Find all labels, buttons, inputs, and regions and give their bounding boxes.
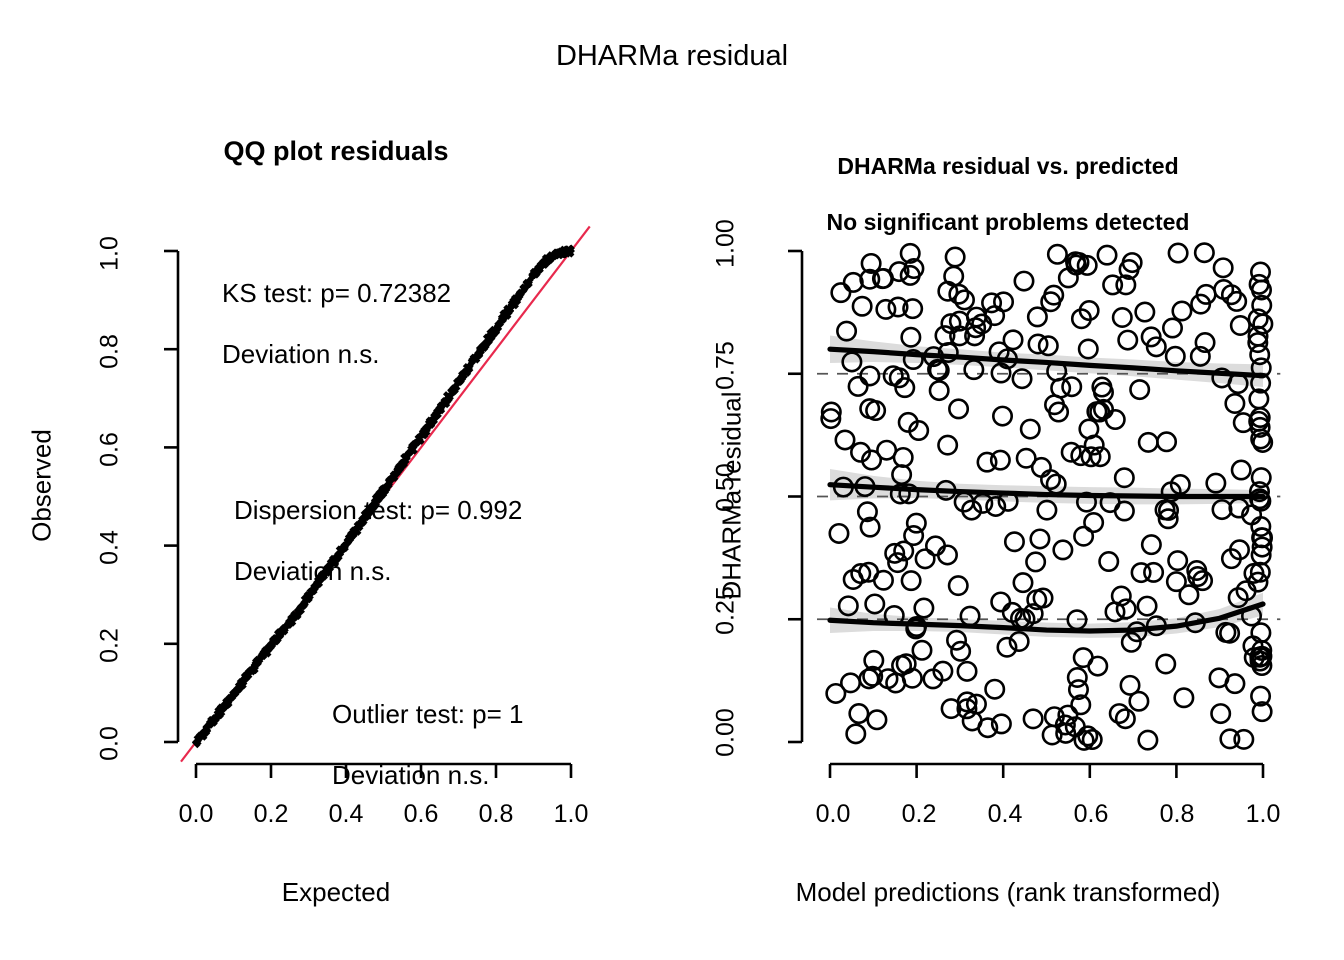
residual-point bbox=[1024, 710, 1042, 728]
qq-point bbox=[498, 320, 503, 325]
qq-point bbox=[435, 413, 440, 418]
qq-point bbox=[282, 626, 287, 631]
qq-point bbox=[543, 257, 548, 262]
qq-point bbox=[514, 299, 519, 304]
qq-point bbox=[500, 310, 505, 315]
qq-point bbox=[206, 721, 211, 726]
qq-point bbox=[249, 668, 254, 673]
qq-point bbox=[480, 346, 485, 351]
residual-point bbox=[1062, 443, 1080, 461]
qq-point bbox=[551, 254, 556, 259]
qq-point bbox=[242, 678, 247, 683]
residual-point bbox=[1252, 546, 1270, 564]
qq-point bbox=[438, 408, 443, 413]
qq-point bbox=[547, 254, 552, 259]
qq-point bbox=[254, 657, 259, 662]
qq-point bbox=[495, 322, 500, 327]
qq-point bbox=[422, 433, 427, 438]
qq-point bbox=[558, 253, 563, 258]
qq-point bbox=[476, 345, 481, 350]
qq-point bbox=[472, 357, 477, 362]
qq-point bbox=[518, 294, 523, 299]
qq-point bbox=[551, 252, 556, 257]
residual-point bbox=[841, 674, 859, 692]
qq-point bbox=[487, 340, 492, 345]
qq-point bbox=[200, 730, 205, 735]
dharma-diagnostic-figure: DHARMa residual QQ plot residuals Observ… bbox=[0, 0, 1344, 960]
qq-point bbox=[236, 681, 241, 686]
qq-point bbox=[507, 309, 512, 314]
residual-point bbox=[1252, 359, 1270, 377]
qq-point bbox=[486, 337, 491, 342]
qq-point bbox=[407, 449, 412, 454]
qq-point bbox=[517, 295, 522, 300]
qq-point bbox=[506, 314, 511, 319]
qq-point bbox=[569, 252, 574, 257]
qq-point bbox=[520, 284, 525, 289]
qq-point bbox=[537, 263, 542, 268]
qq-point bbox=[217, 704, 222, 709]
qq-point bbox=[531, 272, 536, 277]
qq-point bbox=[242, 681, 247, 686]
residual-point bbox=[1088, 402, 1106, 420]
qq-point bbox=[513, 304, 518, 309]
qq-point bbox=[455, 381, 460, 386]
qq-point bbox=[451, 386, 456, 391]
qq-point bbox=[551, 251, 556, 256]
residual-point bbox=[895, 542, 913, 560]
residual-confidence-band-q075 bbox=[830, 335, 1263, 387]
qq-point bbox=[411, 444, 416, 449]
residual-point bbox=[852, 564, 870, 582]
qq-point bbox=[273, 635, 278, 640]
qq-point bbox=[423, 425, 428, 430]
qq-point bbox=[539, 264, 544, 269]
residual-point bbox=[1250, 412, 1268, 430]
residual-point bbox=[924, 670, 942, 688]
residual-point bbox=[1252, 430, 1270, 448]
qq-point bbox=[495, 325, 500, 330]
ks-test-line2: Deviation n.s. bbox=[222, 339, 451, 370]
residual-point bbox=[1059, 706, 1077, 724]
qq-point bbox=[498, 320, 503, 325]
qq-point bbox=[262, 654, 267, 659]
qq-point bbox=[261, 654, 266, 659]
qq-point bbox=[467, 365, 472, 370]
qq-point bbox=[565, 251, 570, 256]
qq-point bbox=[454, 379, 459, 384]
qq-point bbox=[418, 437, 423, 442]
qq-point bbox=[538, 264, 543, 269]
qq-point bbox=[542, 261, 547, 266]
residual-point bbox=[978, 453, 996, 471]
qq-point bbox=[562, 253, 567, 258]
qq-point bbox=[258, 653, 263, 658]
residual-point bbox=[1014, 573, 1032, 591]
qq-point bbox=[221, 707, 226, 712]
qq-point bbox=[568, 249, 573, 254]
residual-point bbox=[1253, 538, 1271, 556]
qq-point bbox=[210, 718, 215, 723]
residual-point bbox=[1139, 731, 1157, 749]
qq-point bbox=[250, 668, 255, 673]
qq-point bbox=[230, 694, 235, 699]
qq-point bbox=[488, 338, 493, 343]
residual-y-tick-2: 0.50 bbox=[712, 450, 741, 526]
qq-point bbox=[253, 662, 258, 667]
qq-point bbox=[244, 676, 249, 681]
qq-point bbox=[462, 375, 467, 380]
residual-point bbox=[1189, 567, 1207, 585]
qq-point bbox=[415, 441, 420, 446]
qq-point bbox=[201, 734, 206, 739]
qq-point bbox=[252, 660, 257, 665]
qq-point bbox=[216, 707, 221, 712]
residual-point bbox=[1253, 529, 1271, 547]
qq-point bbox=[246, 671, 251, 676]
qq-point bbox=[224, 699, 229, 704]
residual-point bbox=[1214, 280, 1232, 298]
residual-point bbox=[1244, 637, 1262, 655]
qq-point bbox=[214, 710, 219, 715]
residual-point bbox=[963, 712, 981, 730]
qq-point bbox=[503, 310, 508, 315]
residual-point bbox=[830, 524, 848, 542]
qq-point bbox=[426, 417, 431, 422]
qq-point bbox=[402, 457, 407, 462]
qq-point bbox=[481, 342, 486, 347]
qq-point bbox=[477, 348, 482, 353]
residual-point bbox=[1253, 296, 1271, 314]
qq-point bbox=[437, 410, 442, 415]
residual-point bbox=[856, 477, 874, 495]
qq-x-tick-5: 1.0 bbox=[541, 800, 601, 829]
residual-point bbox=[1251, 346, 1269, 364]
qq-point bbox=[461, 372, 466, 377]
residual-point bbox=[902, 571, 920, 589]
residual-point bbox=[1049, 403, 1067, 421]
qq-point bbox=[442, 403, 447, 408]
residual-point bbox=[1082, 448, 1100, 466]
qq-x-tick-1: 0.2 bbox=[241, 800, 301, 829]
residual-point bbox=[1054, 541, 1072, 559]
qq-point bbox=[467, 367, 472, 372]
qq-point bbox=[484, 344, 489, 349]
qq-point bbox=[253, 661, 258, 666]
qq-point bbox=[512, 298, 517, 303]
qq-point bbox=[472, 357, 477, 362]
qq-point bbox=[417, 435, 422, 440]
qq-point bbox=[416, 440, 421, 445]
qq-point bbox=[526, 278, 531, 283]
qq-point bbox=[545, 259, 550, 264]
residual-point bbox=[1237, 582, 1255, 600]
residual-point bbox=[1101, 493, 1119, 511]
qq-point bbox=[257, 654, 262, 659]
residual-point bbox=[1112, 587, 1130, 605]
qq-point bbox=[258, 659, 263, 664]
qq-point bbox=[566, 248, 571, 253]
qq-point bbox=[410, 448, 415, 453]
qq-point bbox=[557, 248, 562, 253]
qq-point bbox=[419, 429, 424, 434]
qq-point bbox=[215, 712, 220, 717]
qq-point bbox=[248, 669, 253, 674]
qq-point bbox=[434, 414, 439, 419]
qq-point bbox=[500, 319, 505, 324]
residual-point bbox=[1079, 727, 1097, 745]
qq-point bbox=[411, 445, 416, 450]
qq-point bbox=[535, 266, 540, 271]
qq-point bbox=[552, 253, 557, 258]
qq-point bbox=[240, 677, 245, 682]
qq-point bbox=[418, 438, 423, 443]
qq-point bbox=[256, 661, 261, 666]
residual-point bbox=[955, 493, 973, 511]
qq-point bbox=[207, 723, 212, 728]
qq-point bbox=[287, 622, 292, 627]
qq-point bbox=[502, 309, 507, 314]
residual-point bbox=[907, 620, 925, 638]
qq-point bbox=[227, 700, 232, 705]
qq-point bbox=[553, 249, 558, 254]
residual-point bbox=[1091, 403, 1109, 421]
qq-point bbox=[270, 641, 275, 646]
qq-point bbox=[408, 445, 413, 450]
residual-point bbox=[1069, 680, 1087, 698]
qq-point bbox=[270, 643, 275, 648]
residual-point bbox=[874, 269, 892, 287]
qq-point bbox=[520, 289, 525, 294]
qq-point bbox=[216, 707, 221, 712]
residual-point bbox=[1074, 648, 1092, 666]
qq-point bbox=[435, 414, 440, 419]
qq-point bbox=[487, 334, 492, 339]
qq-point bbox=[216, 707, 221, 712]
qq-point bbox=[482, 342, 487, 347]
qq-point bbox=[531, 274, 536, 279]
qq-point bbox=[498, 319, 503, 324]
qq-point bbox=[212, 716, 217, 721]
qq-point bbox=[204, 725, 209, 730]
qq-point bbox=[436, 406, 441, 411]
qq-point bbox=[456, 376, 461, 381]
qq-point bbox=[560, 247, 565, 252]
qq-point bbox=[244, 671, 249, 676]
qq-point bbox=[468, 364, 473, 369]
residual-point bbox=[924, 347, 942, 365]
qq-point bbox=[423, 434, 428, 439]
qq-point bbox=[560, 252, 565, 257]
qq-point bbox=[270, 641, 275, 646]
qq-point bbox=[538, 268, 543, 273]
qq-point bbox=[486, 339, 491, 344]
qq-point bbox=[228, 696, 233, 701]
qq-point bbox=[473, 357, 478, 362]
qq-point bbox=[493, 328, 498, 333]
qq-point bbox=[217, 711, 222, 716]
residual-point bbox=[1094, 383, 1112, 401]
qq-point bbox=[555, 249, 560, 254]
qq-point bbox=[558, 253, 563, 258]
qq-point bbox=[199, 730, 204, 735]
qq-point bbox=[270, 637, 275, 642]
residual-point bbox=[822, 403, 840, 421]
qq-point bbox=[207, 723, 212, 728]
qq-point bbox=[436, 406, 441, 411]
qq-point bbox=[272, 636, 277, 641]
qq-point bbox=[252, 669, 257, 674]
residual-x-tick-2: 0.4 bbox=[975, 800, 1035, 829]
qq-point bbox=[288, 618, 293, 623]
qq-point bbox=[500, 316, 505, 321]
qq-point bbox=[542, 254, 547, 259]
residual-point bbox=[884, 367, 902, 385]
qq-point bbox=[223, 705, 228, 710]
qq-point bbox=[520, 285, 525, 290]
qq-point bbox=[484, 338, 489, 343]
qq-point bbox=[203, 724, 208, 729]
qq-point bbox=[280, 629, 285, 634]
qq-point bbox=[252, 658, 257, 663]
residual-point bbox=[974, 494, 992, 512]
qq-point bbox=[504, 311, 509, 316]
qq-point bbox=[546, 255, 551, 260]
qq-point bbox=[197, 734, 202, 739]
qq-point bbox=[201, 731, 206, 736]
residual-point bbox=[1251, 687, 1269, 705]
qq-point bbox=[230, 693, 235, 698]
qq-point bbox=[557, 249, 562, 254]
residual-point bbox=[1251, 263, 1269, 281]
qq-point bbox=[470, 360, 475, 365]
qq-point bbox=[253, 668, 258, 673]
qq-point bbox=[239, 686, 244, 691]
qq-point bbox=[235, 682, 240, 687]
qq-point bbox=[554, 253, 559, 258]
qq-point bbox=[273, 637, 278, 642]
qq-point bbox=[244, 671, 249, 676]
qq-point bbox=[203, 725, 208, 730]
qq-point bbox=[525, 281, 530, 286]
qq-point bbox=[433, 415, 438, 420]
qq-point bbox=[196, 732, 201, 737]
residual-point bbox=[998, 350, 1016, 368]
qq-point bbox=[196, 736, 201, 741]
qq-point bbox=[229, 694, 234, 699]
qq-point bbox=[405, 450, 410, 455]
qq-point bbox=[466, 363, 471, 368]
qq-point bbox=[485, 333, 490, 338]
qq-point bbox=[277, 631, 282, 636]
qq-point bbox=[462, 371, 467, 376]
qq-point bbox=[477, 354, 482, 359]
qq-point bbox=[407, 450, 412, 455]
qq-point bbox=[471, 356, 476, 361]
qq-point bbox=[278, 627, 283, 632]
residual-point bbox=[1130, 380, 1148, 398]
qq-point bbox=[478, 345, 483, 350]
qq-point bbox=[286, 622, 291, 627]
residual-point bbox=[1235, 730, 1253, 748]
qq-point bbox=[546, 254, 551, 259]
qq-point bbox=[416, 435, 421, 440]
qq-point bbox=[494, 329, 499, 334]
qq-point bbox=[524, 282, 529, 287]
qq-point bbox=[210, 720, 215, 725]
residual-point bbox=[1252, 517, 1270, 535]
qq-point bbox=[403, 456, 408, 461]
qq-point bbox=[414, 439, 419, 444]
qq-point bbox=[546, 255, 551, 260]
qq-point bbox=[436, 410, 441, 415]
residual-point bbox=[1072, 446, 1090, 464]
residual-y-tick-1: 0.25 bbox=[712, 573, 741, 649]
qq-point bbox=[237, 679, 242, 684]
qq-point bbox=[418, 431, 423, 436]
qq-point bbox=[542, 263, 547, 268]
qq-y-tick-4: 0.8 bbox=[96, 322, 125, 382]
qq-point bbox=[552, 250, 557, 255]
qq-point bbox=[516, 296, 521, 301]
residual-point bbox=[1245, 564, 1263, 582]
residual-point bbox=[1211, 704, 1229, 722]
qq-point bbox=[452, 390, 457, 395]
qq-point bbox=[485, 343, 490, 348]
qq-point bbox=[517, 289, 522, 294]
qq-point bbox=[466, 363, 471, 368]
qq-point bbox=[445, 402, 450, 407]
qq-point bbox=[553, 252, 558, 257]
qq-point bbox=[537, 268, 542, 273]
qq-point bbox=[225, 701, 230, 706]
qq-point bbox=[213, 715, 218, 720]
qq-point bbox=[460, 377, 465, 382]
qq-point bbox=[520, 285, 525, 290]
qq-point bbox=[490, 326, 495, 331]
qq-point bbox=[282, 624, 287, 629]
residual-point bbox=[1116, 710, 1134, 728]
residual-point bbox=[1166, 347, 1184, 365]
residual-point bbox=[892, 656, 910, 674]
qq-point bbox=[479, 348, 484, 353]
qq-point bbox=[199, 732, 204, 737]
qq-point bbox=[495, 321, 500, 326]
qq-point bbox=[437, 403, 442, 408]
residual-point bbox=[1132, 563, 1150, 581]
qq-point bbox=[408, 447, 413, 452]
qq-point bbox=[252, 664, 257, 669]
qq-point bbox=[401, 453, 406, 458]
residual-point bbox=[1115, 469, 1133, 487]
residual-point bbox=[877, 300, 895, 318]
qq-point bbox=[460, 375, 465, 380]
qq-point bbox=[410, 448, 415, 453]
qq-point bbox=[277, 628, 282, 633]
qq-point bbox=[538, 262, 543, 267]
qq-point bbox=[426, 426, 431, 431]
qq-point bbox=[463, 370, 468, 375]
qq-point bbox=[459, 373, 464, 378]
residual-point bbox=[1250, 490, 1268, 508]
qq-y-tick-0: 0.0 bbox=[96, 714, 125, 774]
qq-point bbox=[262, 647, 267, 652]
qq-point bbox=[506, 310, 511, 315]
qq-point bbox=[208, 723, 213, 728]
residual-point bbox=[1084, 513, 1102, 531]
outlier-test-line2: Deviation n.s. bbox=[332, 760, 523, 791]
qq-point bbox=[560, 249, 565, 254]
